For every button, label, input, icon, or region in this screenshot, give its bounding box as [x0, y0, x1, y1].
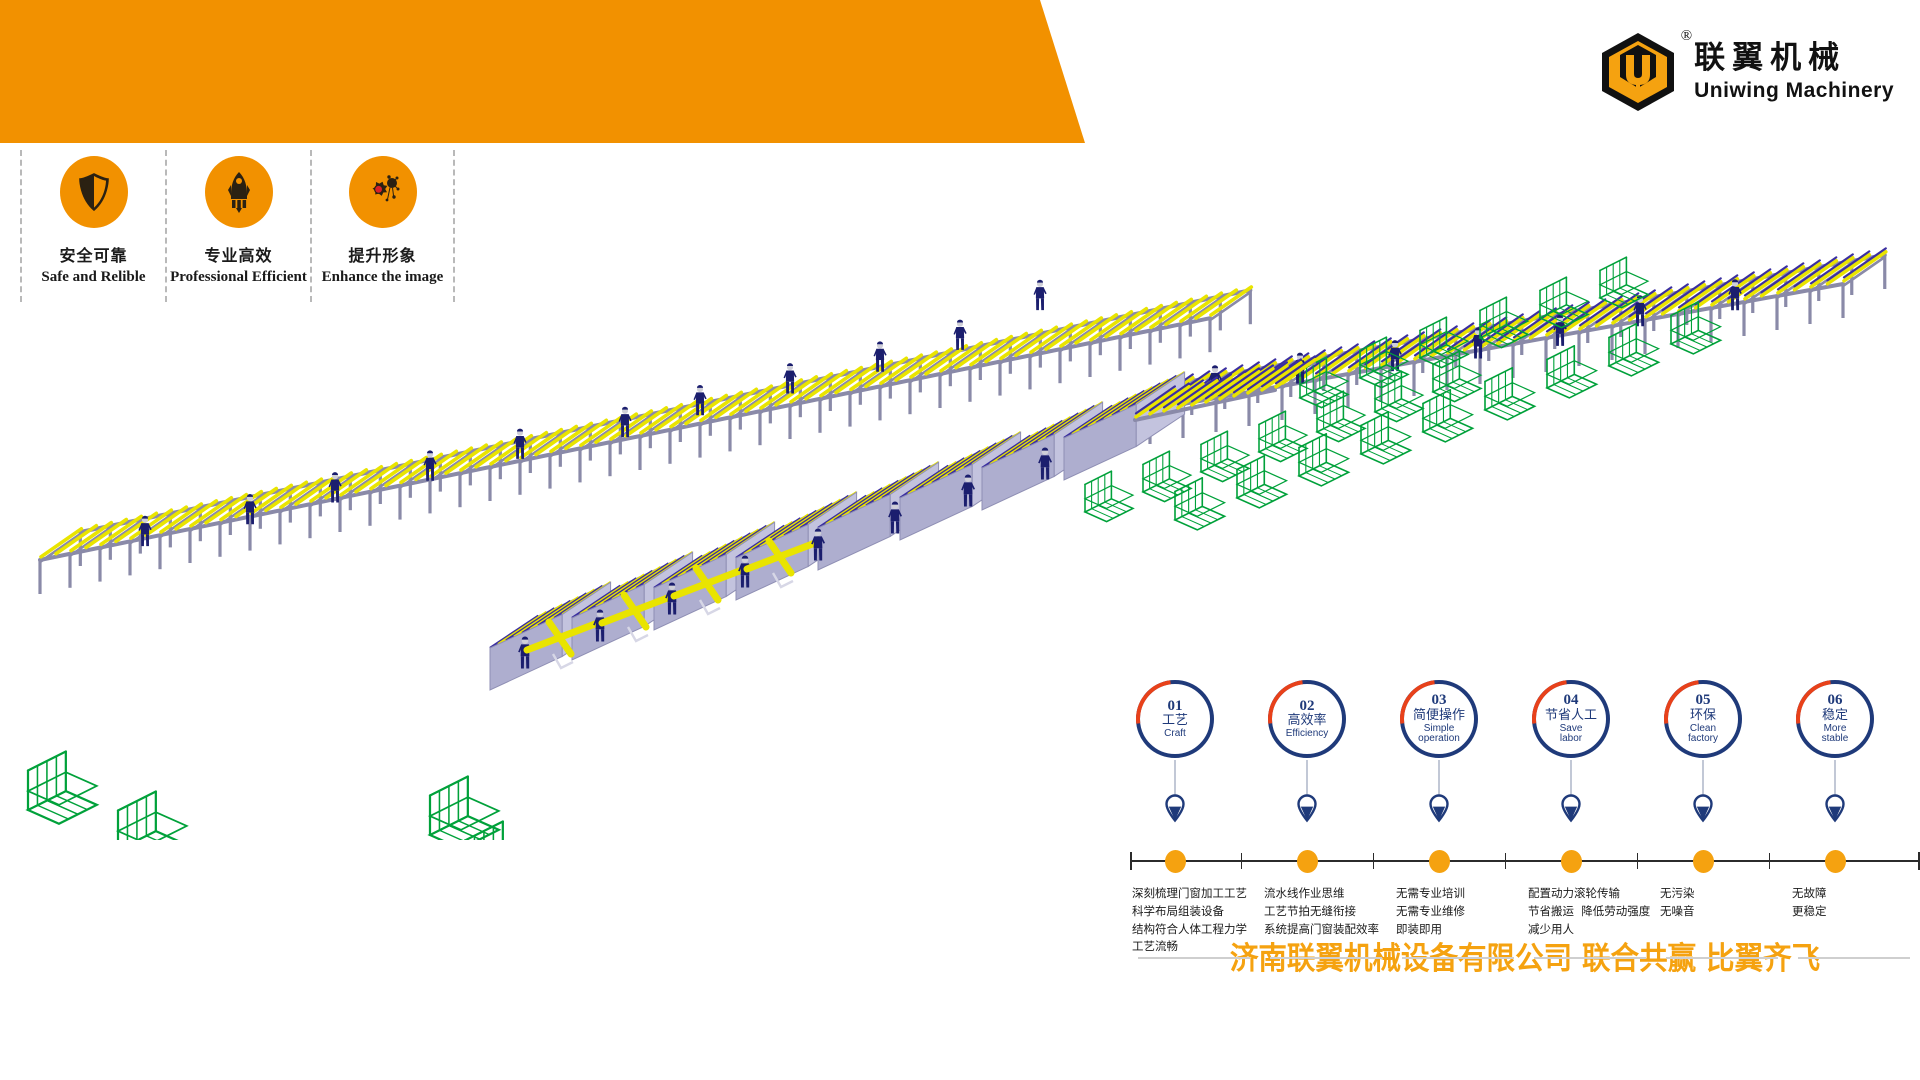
benefit-badge-03[interactable]: 03简便操作Simpleoperation	[1400, 680, 1478, 758]
timeline-tick	[1505, 853, 1506, 869]
benefit-badge-04[interactable]: 04节省人工Savelabor	[1532, 680, 1610, 758]
green-material-cart	[1201, 431, 1249, 481]
badge-number: 04	[1564, 693, 1579, 709]
timeline-tick	[1373, 853, 1374, 869]
green-material-cart	[28, 752, 97, 824]
badge-title-cn: 环保	[1690, 709, 1716, 723]
uniwing-hexagon-u-logo-icon: ®	[1596, 30, 1680, 114]
assembly-work-table	[1064, 372, 1185, 480]
benefit-description-06: 无故障 更稳定	[1792, 885, 1827, 921]
badge-title-en: Craft	[1164, 729, 1186, 740]
feature-title-cn: 安全可靠	[59, 242, 127, 266]
timeline-dot-06[interactable]	[1825, 850, 1846, 873]
logo-text-block: 联翼机械 Uniwing Machinery	[1694, 41, 1894, 103]
feature-item-safe: 安全可靠 Safe and Relible	[20, 150, 165, 302]
benefit-description-04: 配置动力滚轮传输 节省搬运 降低劳动强度 减少用人	[1528, 885, 1650, 938]
badge-title-en: Savelabor	[1560, 724, 1583, 745]
green-material-cart	[1485, 368, 1535, 420]
logo-name-cn: 联翼机械	[1694, 41, 1894, 77]
shield-icon	[60, 156, 128, 228]
benefit-badge-01[interactable]: 01工艺Craft	[1136, 680, 1214, 758]
green-material-cart	[1175, 478, 1225, 530]
timeline-axis-cap-left	[1130, 852, 1132, 870]
timeline-tick	[1769, 853, 1770, 869]
registered-trademark-icon: ®	[1681, 28, 1692, 45]
assembly-table-line-c	[490, 356, 1315, 690]
benefit-description-02: 流水线作业思维 工艺节拍无缝衔接 系统提高门窗装配效率	[1264, 885, 1379, 938]
badge-number: 06	[1828, 693, 1843, 709]
feature-item-image: 提升形象 Enhance the image	[310, 150, 455, 302]
footer-rule	[1130, 957, 1920, 959]
green-material-cart	[1547, 346, 1597, 398]
badge-number: 05	[1696, 693, 1711, 709]
feature-title-en: Enhance the image	[322, 269, 444, 286]
green-material-cart	[1423, 390, 1473, 442]
timeline-axis	[1130, 860, 1920, 862]
timeline-dot-05[interactable]	[1693, 850, 1714, 873]
rocket-icon	[205, 156, 273, 228]
badge-title-en: Morestable	[1822, 724, 1849, 745]
benefit-badge-05[interactable]: 05环保Cleanfactory	[1664, 680, 1742, 758]
benefit-description-03: 无需专业培训 无需专业维修 即装即用	[1396, 885, 1465, 938]
feature-title-en: Safe and Relible	[41, 269, 145, 286]
badge-title-cn: 节省人工	[1545, 709, 1597, 723]
badge-title-en: Efficiency	[1286, 729, 1329, 740]
feature-item-professional: 专业高效 Professional Efficient	[165, 150, 310, 302]
cart-row-left	[28, 752, 534, 840]
green-material-cart	[118, 792, 187, 840]
brand-logo: ® 联翼机械 Uniwing Machinery	[1596, 30, 1894, 114]
green-material-cart	[1143, 451, 1191, 501]
timeline-dot-02[interactable]	[1297, 850, 1318, 873]
feature-title-cn: 提升形象	[348, 242, 416, 266]
feature-strip: 安全可靠 Safe and Relible 专业高效 Professional	[20, 150, 455, 302]
badge-title-en: Cleanfactory	[1688, 724, 1718, 745]
benefit-badge-06[interactable]: 06稳定Morestable	[1796, 680, 1874, 758]
feature-title-en: Professional Efficient	[170, 269, 307, 286]
green-material-cart	[1609, 324, 1659, 376]
gear-network-icon	[349, 156, 417, 228]
green-material-cart	[430, 777, 499, 840]
feature-title-cn: 专业高效	[204, 242, 272, 266]
logo-name-en: Uniwing Machinery	[1694, 79, 1894, 103]
worker-figure	[1034, 280, 1047, 310]
badge-title-cn: 稳定	[1822, 709, 1848, 723]
timeline-dot-01[interactable]	[1165, 850, 1186, 873]
timeline-dot-03[interactable]	[1429, 850, 1450, 873]
green-material-cart	[1085, 471, 1133, 521]
green-material-cart	[1361, 412, 1411, 464]
timeline-tick	[1241, 853, 1242, 869]
green-material-cart	[1299, 434, 1349, 486]
benefit-badge-02[interactable]: 02高效率Efficiency	[1268, 680, 1346, 758]
green-material-cart	[1237, 456, 1287, 508]
timeline-dot-04[interactable]	[1561, 850, 1582, 873]
badge-title-cn: 高效率	[1287, 714, 1326, 728]
footer-text: 济南联翼机械设备有限公司 联合共赢 比翼齐飞	[1162, 933, 1889, 978]
benefit-description-05: 无污染 无噪音	[1660, 885, 1695, 921]
badge-number: 03	[1432, 693, 1447, 709]
timeline-tick	[1637, 853, 1638, 869]
badge-title-cn: 工艺	[1162, 714, 1188, 728]
badge-number: 01	[1168, 699, 1183, 715]
poster-root: 门窗装配流水线系统解决方案 Door and window assembly l…	[0, 0, 1920, 1080]
footer-company-banner: 济南联翼机械设备有限公司 联合共赢 比翼齐飞	[1130, 955, 1920, 1025]
badge-title-cn: 简便操作	[1413, 709, 1465, 723]
badge-title-en: Simpleoperation	[1418, 724, 1460, 745]
header-banner	[0, 0, 1085, 143]
